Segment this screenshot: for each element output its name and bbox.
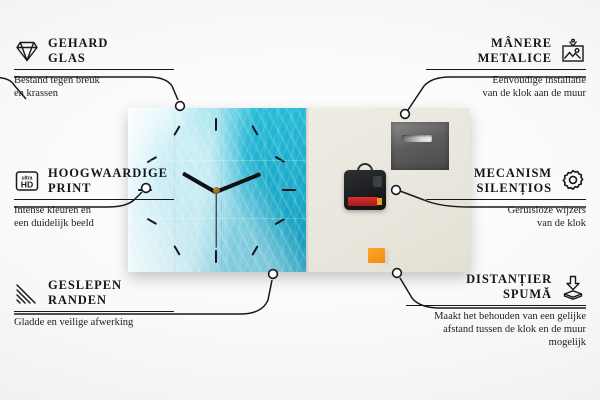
feature-desc-line1: Bestand tegen breuk bbox=[14, 75, 100, 86]
feature-geslepen-randen: GESLEPEN RANDEN Gladde en veilige afwerk… bbox=[14, 278, 174, 329]
clock-tick bbox=[215, 118, 217, 131]
feature-title: GESLEPEN RANDEN bbox=[48, 278, 122, 308]
feature-title: MÂNERE METALICE bbox=[478, 36, 552, 66]
clock-tick bbox=[215, 250, 217, 263]
hanger-slot bbox=[402, 135, 432, 142]
feature-desc-line1: Gladde en veilige afwerking bbox=[14, 317, 133, 328]
feature-desc-line1: Intense kleuren en bbox=[14, 205, 91, 216]
clock-tick bbox=[282, 189, 296, 191]
feature-title-line2: SILENȚIOS bbox=[477, 181, 553, 195]
feature-divider bbox=[406, 305, 586, 306]
feature-title-line1: HOOGWAARDIGE bbox=[48, 166, 168, 180]
mechanism-time-dial bbox=[373, 176, 382, 187]
feature-desc-line2: een duidelijk beeld bbox=[14, 218, 94, 229]
feature-desc-line1: Maakt het behouden van een gelijke bbox=[434, 311, 586, 322]
feature-gehard-glas: GEHARD GLAS Bestand tegen breuk en krass… bbox=[14, 36, 174, 100]
diamond-icon bbox=[14, 38, 40, 64]
feature-divider bbox=[426, 199, 586, 200]
infographic-stage: GEHARD GLAS Bestand tegen breuk en krass… bbox=[0, 0, 600, 400]
feature-description: Geruisloze wijzers van de klok bbox=[426, 204, 586, 230]
clock-tick bbox=[173, 245, 180, 255]
foam-spacer-icon bbox=[560, 274, 586, 300]
clock-tick bbox=[275, 218, 285, 225]
feature-desc-line1: Geruisloze wijzers bbox=[508, 205, 586, 216]
feature-title: HOOGWAARDIGE PRINT bbox=[48, 166, 168, 196]
feature-header: GEHARD GLAS bbox=[14, 36, 174, 66]
feature-hoogwaardige-print: ultra HD HOOGWAARDIGE PRINT Intense kleu… bbox=[14, 166, 174, 230]
beveled-edge-icon bbox=[14, 280, 40, 306]
metal-hanger bbox=[391, 122, 449, 170]
feature-header: DISTANȚIER SPUMĂ bbox=[406, 272, 586, 302]
clock-tick bbox=[251, 245, 258, 255]
clock-hour-hand bbox=[182, 171, 217, 194]
feature-title-line2: PRINT bbox=[48, 181, 91, 195]
ultra-hd-icon: ultra HD bbox=[14, 168, 40, 194]
product-photo bbox=[128, 108, 470, 272]
feature-title-line1: MECANISM bbox=[474, 166, 552, 180]
feature-header: GESLEPEN RANDEN bbox=[14, 278, 174, 308]
clock-tick bbox=[275, 156, 285, 163]
feature-desc-line2: van de klok bbox=[537, 218, 586, 229]
feature-title: MECANISM SILENȚIOS bbox=[474, 166, 552, 196]
hanging-picture-icon bbox=[560, 38, 586, 64]
feature-header: ultra HD HOOGWAARDIGE PRINT bbox=[14, 166, 174, 196]
feature-title: DISTANȚIER SPUMĂ bbox=[466, 272, 552, 302]
feature-title-line1: DISTANȚIER bbox=[466, 272, 552, 286]
clock-tick bbox=[173, 125, 180, 135]
clock-tick bbox=[251, 125, 258, 135]
feature-divider bbox=[14, 311, 174, 312]
feature-description: Gladde en veilige afwerking bbox=[14, 316, 174, 329]
feature-description: Maakt het behouden van een gelijke afsta… bbox=[406, 310, 586, 349]
feature-title-line1: GESLEPEN bbox=[48, 278, 122, 292]
feature-description: Bestand tegen breuk en krassen bbox=[14, 74, 174, 100]
feature-distantier-spuma: DISTANȚIER SPUMĂ Maakt het behouden van … bbox=[406, 272, 586, 349]
mechanism-hanging-loop bbox=[357, 163, 373, 173]
feature-divider bbox=[426, 69, 586, 70]
feature-manere-metalice: MÂNERE METALICE Eenvoudige installatie v… bbox=[426, 36, 586, 100]
feature-title: GEHARD GLAS bbox=[48, 36, 108, 66]
feature-desc-line1: Eenvoudige installatie bbox=[492, 75, 586, 86]
aa-battery bbox=[348, 197, 378, 206]
feature-desc-line2: afstand tussen de klok en de muur mogeli… bbox=[443, 324, 586, 348]
feature-header: MECANISM SILENȚIOS bbox=[426, 166, 586, 196]
feature-title-line2: SPUMĂ bbox=[503, 287, 552, 301]
feature-title-line2: GLAS bbox=[48, 51, 86, 65]
clock-second-hand bbox=[215, 192, 216, 248]
clock-tick bbox=[147, 156, 157, 163]
feature-desc-line2: van de klok aan de muur bbox=[482, 88, 586, 99]
feature-header: MÂNERE METALICE bbox=[426, 36, 586, 66]
feature-desc-line2: en krassen bbox=[14, 88, 58, 99]
feature-description: Eenvoudige installatie van de klok aan d… bbox=[426, 74, 586, 100]
svg-text:HD: HD bbox=[21, 180, 33, 190]
feature-title-line2: METALICE bbox=[478, 51, 552, 65]
quartz-mechanism bbox=[344, 170, 386, 210]
feature-title-line2: RANDEN bbox=[48, 293, 107, 307]
feature-description: Intense kleuren en een duidelijk beeld bbox=[14, 204, 174, 230]
foam-spacer bbox=[368, 248, 385, 263]
clock-minute-hand bbox=[215, 172, 261, 194]
gear-icon bbox=[560, 168, 586, 194]
feature-mecanism-silentios: MECANISM SILENȚIOS Geruisloze wijzers va… bbox=[426, 166, 586, 230]
clock-center-hub bbox=[213, 187, 220, 194]
feature-title-line1: GEHARD bbox=[48, 36, 108, 50]
feature-divider bbox=[14, 199, 174, 200]
feature-title-line1: MÂNERE bbox=[491, 36, 552, 50]
feature-divider bbox=[14, 69, 174, 70]
